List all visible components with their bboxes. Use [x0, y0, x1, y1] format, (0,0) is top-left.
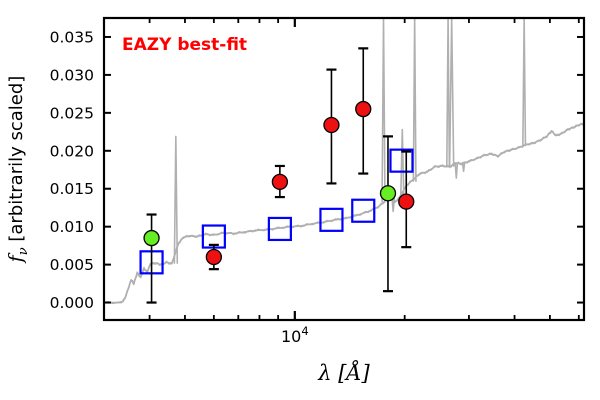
emission-line — [450, 18, 454, 166]
y-tick-label: 0.010 — [50, 218, 94, 236]
absorption-line — [455, 163, 457, 178]
sed-plot: 0.0000.0050.0100.0150.0200.0250.0300.035… — [0, 0, 600, 400]
errorbar — [147, 215, 157, 303]
y-tick-label: 0.005 — [50, 256, 94, 274]
svg-text:fν [arbitrarily scaled]: fν [arbitrarily scaled] — [5, 76, 31, 265]
x-axis: 104 — [150, 18, 579, 346]
plot-annotation: EAZY best-fit — [122, 35, 247, 55]
observed-photometry-point — [272, 174, 287, 189]
emission-line — [174, 136, 177, 263]
y-tick-label: 0.025 — [50, 104, 94, 122]
observed-photometry-point — [399, 194, 414, 209]
figure-root: 0.0000.0050.0100.0150.0200.0250.0300.035… — [0, 0, 600, 400]
observed-photometry-point — [324, 117, 339, 132]
y-axis: 0.0000.0050.0100.0150.0200.0250.0300.035 — [50, 28, 584, 312]
observed-photometry-point — [380, 186, 395, 201]
y-tick-label: 0.035 — [50, 28, 94, 46]
y-tick-label: 0.000 — [50, 294, 94, 312]
observed-photometry-point — [144, 231, 159, 246]
emission-line — [447, 18, 450, 167]
data-layer — [104, 18, 584, 303]
emission-line — [382, 18, 385, 202]
y-tick-label: 0.020 — [50, 142, 94, 160]
emission-line — [413, 18, 416, 181]
absorption-line — [463, 163, 465, 171]
y-tick-label: 0.030 — [50, 66, 94, 84]
x-axis-label: λ [Å] — [317, 360, 370, 385]
x-tick-label: 104 — [281, 324, 309, 346]
y-tick-label: 0.015 — [50, 180, 94, 198]
emission-line — [523, 18, 526, 145]
observed-photometry-point — [206, 250, 221, 265]
emission-line — [401, 130, 404, 195]
y-axis-label: fν [arbitrarily scaled] — [5, 76, 31, 265]
observed-photometry-point — [356, 102, 371, 117]
